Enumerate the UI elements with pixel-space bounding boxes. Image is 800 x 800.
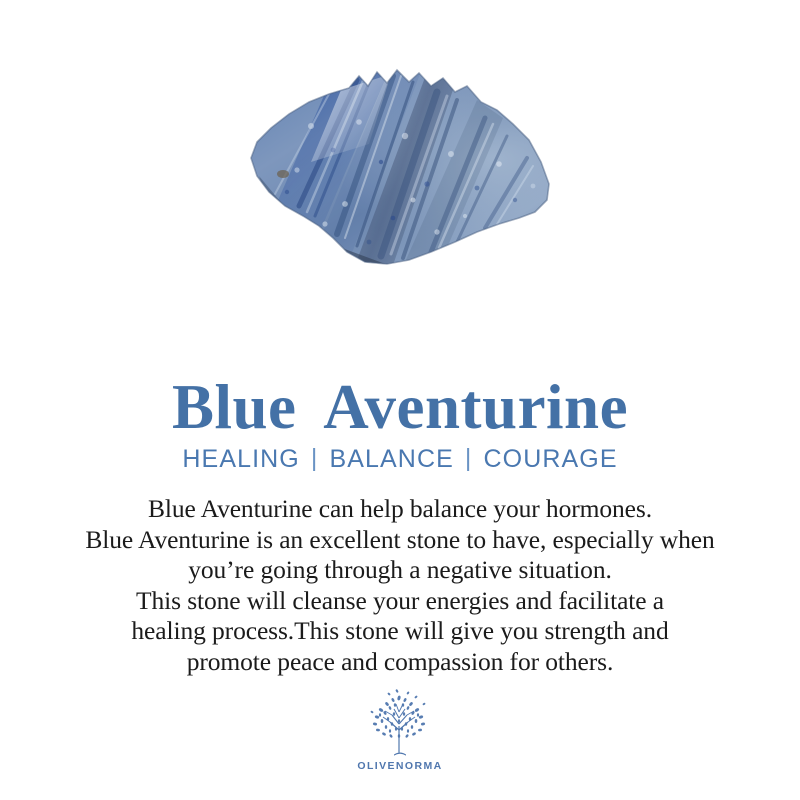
stone-body xyxy=(241,66,559,271)
tree-icon xyxy=(364,686,436,758)
brand-wordmark: OLIVENORMA xyxy=(357,760,442,772)
brand-logo: OLIVENORMA xyxy=(0,686,800,772)
keyword-list: HEALING|BALANCE|COURAGE xyxy=(0,445,800,474)
description-line: Blue Aventurine can help balance your ho… xyxy=(20,494,780,525)
stone-image-container xyxy=(0,56,800,281)
description-line: healing process.This stone will give you… xyxy=(20,616,780,647)
page-title: Blue Aventurine xyxy=(0,374,800,440)
keyword-courage: COURAGE xyxy=(484,445,618,474)
description-line: you’re going through a negative situatio… xyxy=(20,555,780,586)
blue-aventurine-stone-image xyxy=(241,66,559,271)
description-line: promote peace and compassion for others. xyxy=(20,647,780,678)
keyword-healing: HEALING xyxy=(182,445,299,474)
gemstone-info-card: Blue Aventurine HEALING|BALANCE|COURAGE … xyxy=(0,0,800,800)
keyword-separator: | xyxy=(300,444,330,473)
description-line: Blue Aventurine is an excellent stone to… xyxy=(20,525,780,556)
keyword-separator: | xyxy=(454,444,484,473)
description-text: Blue Aventurine can help balance your ho… xyxy=(20,494,780,677)
description-line: This stone will cleanse your energies an… xyxy=(20,586,780,617)
keyword-balance: BALANCE xyxy=(329,445,453,474)
